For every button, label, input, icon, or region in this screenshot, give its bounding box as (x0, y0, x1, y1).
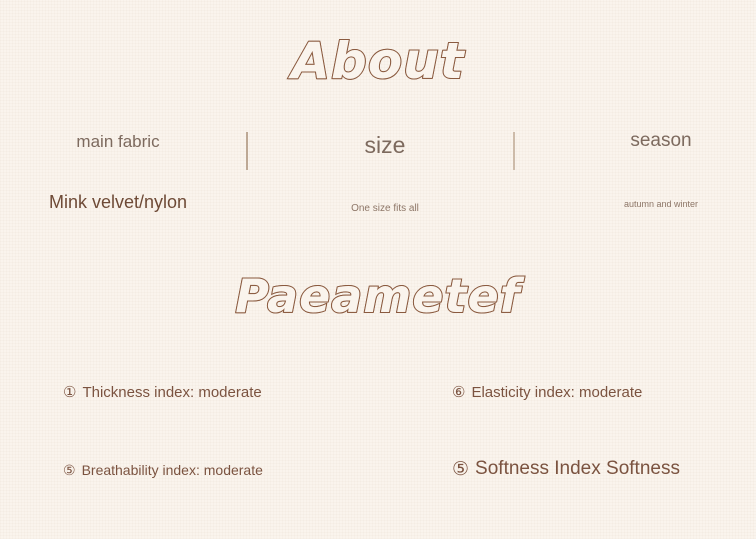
index-item-elasticity: ⑥ Elasticity index: moderate (452, 384, 642, 401)
circled-number-icon: ⑥ (452, 385, 465, 400)
about-heading: About (0, 33, 756, 89)
spec-value-main-fabric: Mink velvet/nylon (0, 192, 236, 213)
index-item-softness: ⑤ Softness Index Softness (452, 458, 680, 480)
circled-number-icon: ① (63, 385, 76, 400)
index-item-thickness: ① Thickness index: moderate (63, 384, 262, 401)
spec-value-size: One size fits all (278, 203, 492, 214)
product-detail-page: About main fabric Mink velvet/nylon size… (0, 0, 756, 539)
spec-column-main-fabric: main fabric Mink velvet/nylon (0, 132, 236, 213)
spec-value-season: autumn and winter (566, 199, 756, 209)
index-label-thickness: Thickness index: moderate (82, 384, 261, 401)
index-label-softness: Softness Index Softness (475, 458, 680, 480)
column-divider (246, 132, 248, 170)
parameters-heading: Paeametef (0, 270, 756, 322)
column-divider (513, 132, 515, 170)
spec-label-season: season (566, 130, 756, 152)
spec-label-size: size (278, 132, 492, 159)
circled-number-icon: ⑤ (63, 463, 76, 477)
index-label-elasticity: Elasticity index: moderate (471, 384, 642, 401)
spec-column-season: season autumn and winter (566, 130, 756, 209)
spec-label-main-fabric: main fabric (0, 132, 236, 152)
index-item-breathability: ⑤ Breathability index: moderate (63, 462, 263, 478)
spec-column-size: size One size fits all (278, 132, 492, 214)
index-label-breathability: Breathability index: moderate (82, 462, 263, 478)
circled-number-icon: ⑤ (452, 460, 469, 479)
